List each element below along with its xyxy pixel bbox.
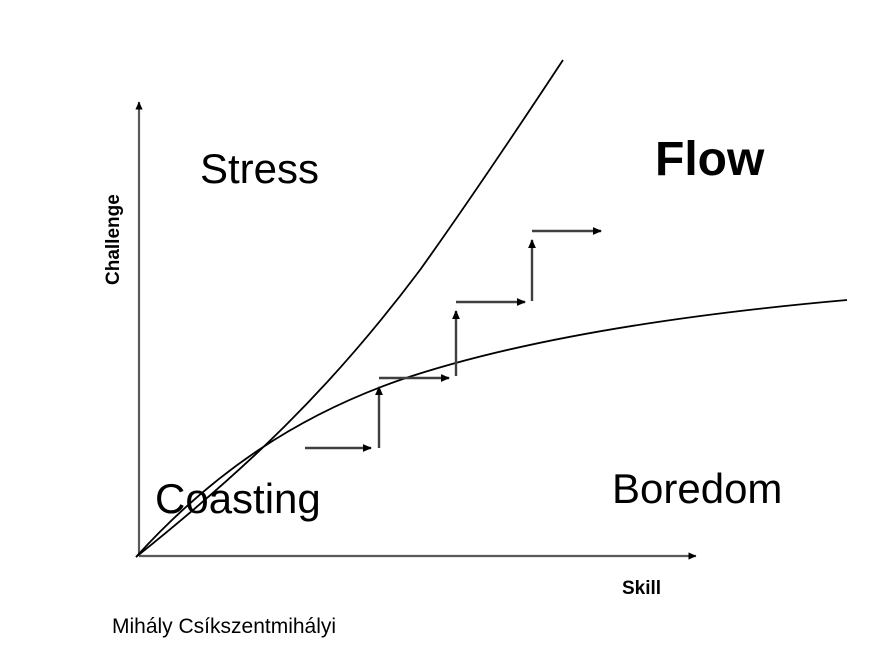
zone-label-flow: Flow — [655, 133, 765, 186]
author-credit: Mihály Csíkszentmihályi — [112, 615, 336, 638]
y-axis-label: Challenge — [103, 194, 124, 285]
flow-diagram-canvas: Challenge Skill Stress Flow Coasting Bor… — [0, 0, 894, 666]
zone-label-boredom: Boredom — [612, 465, 782, 512]
flow-model-diagram: Challenge Skill Stress Flow Coasting Bor… — [0, 0, 894, 666]
zone-label-coasting: Coasting — [155, 475, 321, 522]
zone-label-stress: Stress — [200, 145, 319, 192]
x-axis-label: Skill — [622, 578, 661, 599]
